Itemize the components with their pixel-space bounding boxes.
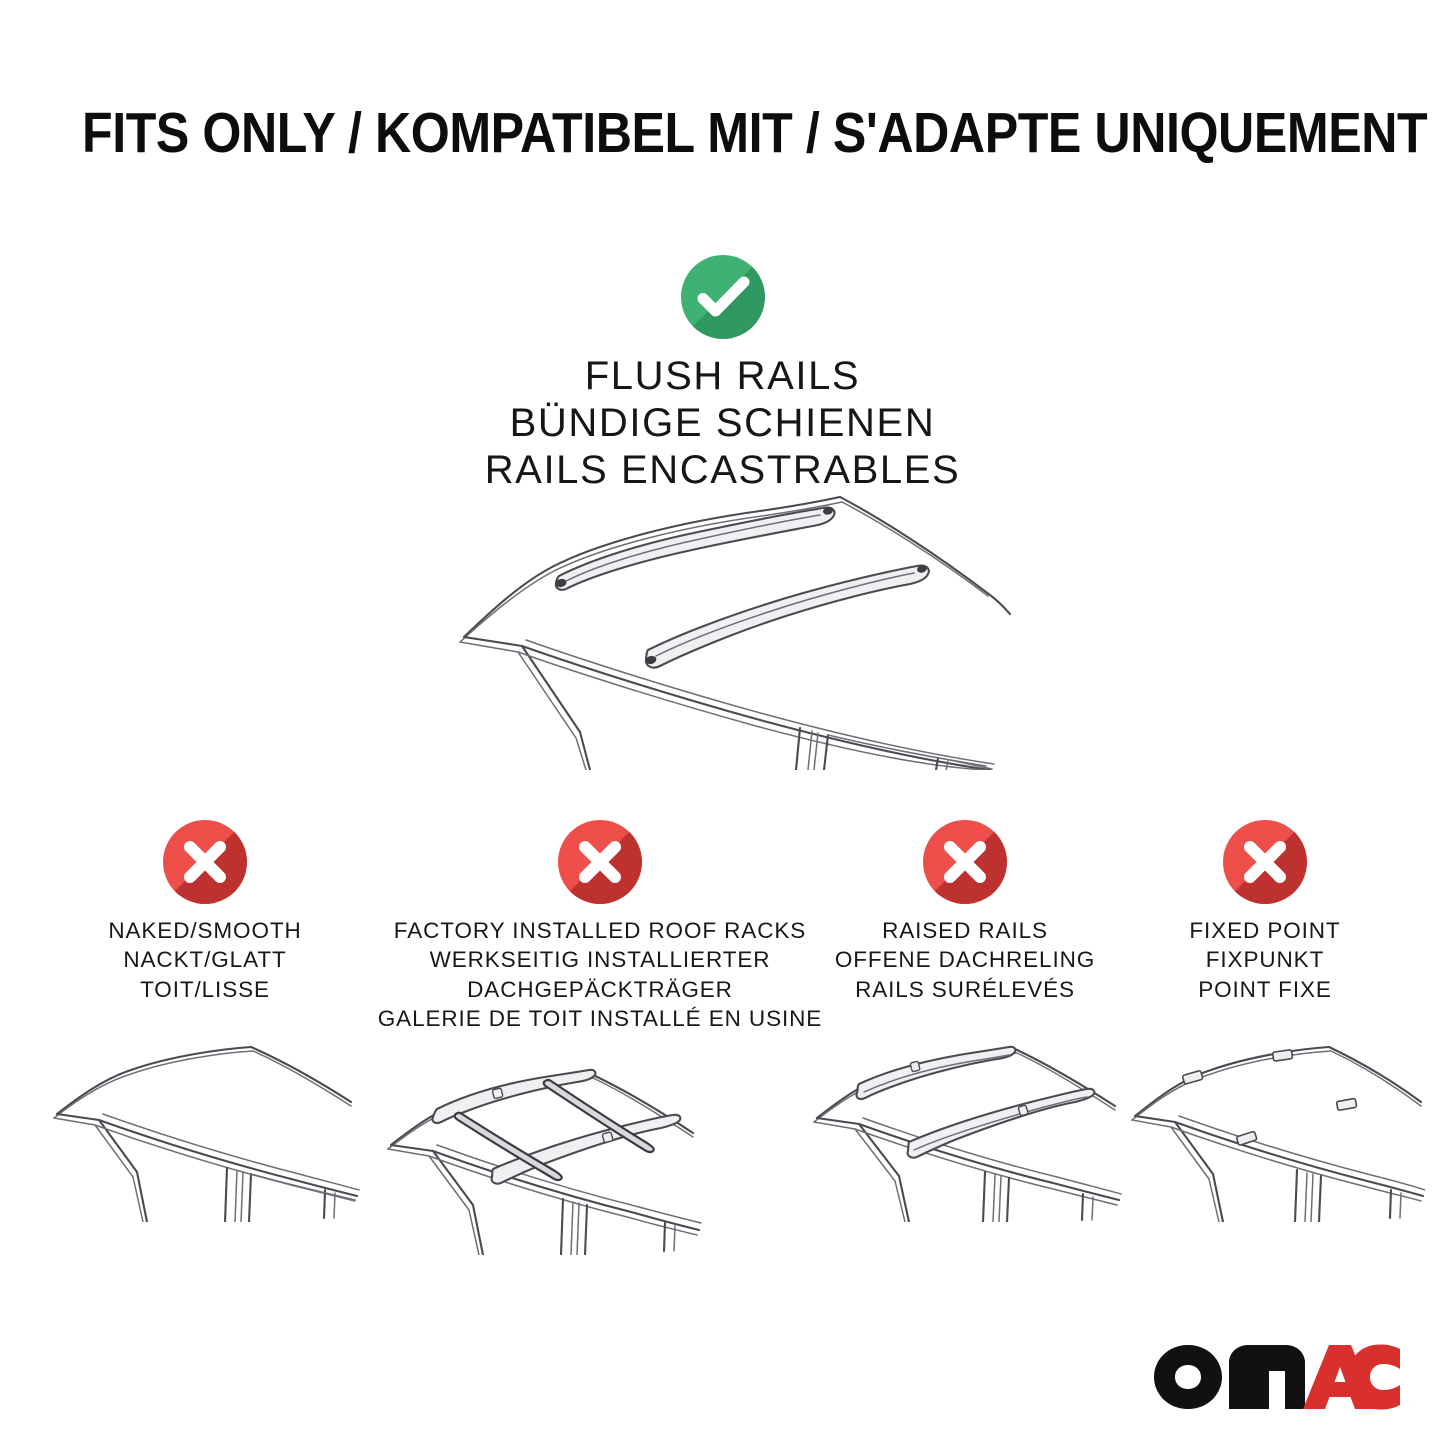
caption: NAKED/SMOOTH NACKT/GLATT TOIT/LISSE xyxy=(45,916,365,1004)
incompatible-item-factory-roof-racks: FACTORY INSTALLED ROOF RACKS WERKSEITIG … xyxy=(375,820,825,1255)
car-roof-bare-illustration xyxy=(45,1022,365,1222)
car-roof-flush-rails-illustration xyxy=(430,470,1030,770)
badge-wrapper xyxy=(805,820,1125,916)
car-roof-raised-rails-illustration xyxy=(805,1022,1125,1222)
caption-line-fr: GALERIE DE TOIT INSTALLÉ EN USINE xyxy=(375,1004,825,1033)
compatibility-infographic: FITS ONLY / KOMPATIBEL MIT / S'ADAPTE UN… xyxy=(0,0,1445,1445)
x-circle-icon xyxy=(1223,820,1307,904)
caption: FIXED POINT FIXPUNKT POINT FIXE xyxy=(1125,916,1405,1004)
caption-line-fr: TOIT/LISSE xyxy=(45,975,365,1004)
incompatible-item-fixed-point: FIXED POINT FIXPUNKT POINT FIXE xyxy=(1125,820,1405,1222)
logo-letter-m xyxy=(1229,1345,1305,1409)
caption-line-en: FACTORY INSTALLED ROOF RACKS xyxy=(375,916,825,945)
x-circle-icon xyxy=(558,820,642,904)
incompatible-section: NAKED/SMOOTH NACKT/GLATT TOIT/LISSE xyxy=(0,820,1445,1240)
logo-letter-o xyxy=(1154,1345,1222,1409)
x-circle-icon xyxy=(163,820,247,904)
car-roof-with-crossbars-illustration xyxy=(375,1045,825,1255)
compatible-label-en: FLUSH RAILS xyxy=(0,353,1445,400)
incompatible-item-naked-smooth: NAKED/SMOOTH NACKT/GLATT TOIT/LISSE xyxy=(45,820,365,1222)
caption-line-de: FIXPUNKT xyxy=(1125,945,1405,974)
car-roof-fixed-points-illustration xyxy=(1125,1022,1405,1222)
omac-logo xyxy=(1151,1341,1403,1413)
caption-line-en: FIXED POINT xyxy=(1125,916,1405,945)
caption-line-fr: RAILS SURÉLEVÉS xyxy=(805,975,1125,1004)
caption-line-fr: POINT FIXE xyxy=(1125,975,1405,1004)
badge-wrapper xyxy=(1125,820,1405,916)
compatible-section: FLUSH RAILS BÜNDIGE SCHIENEN RAILS ENCAS… xyxy=(0,255,1445,495)
badge-wrapper xyxy=(375,820,825,916)
caption-line-de: OFFENE DACHRELING xyxy=(805,945,1125,974)
caption-line-de: NACKT/GLATT xyxy=(45,945,365,974)
caption-line-en: RAISED RAILS xyxy=(805,916,1125,945)
check-circle-icon xyxy=(681,255,765,339)
caption-line-de-2: DACHGEPÄCKTRÄGER xyxy=(375,975,825,1004)
caption-line-en: NAKED/SMOOTH xyxy=(45,916,365,945)
page-title: FITS ONLY / KOMPATIBEL MIT / S'ADAPTE UN… xyxy=(82,105,1226,162)
incompatible-item-raised-rails: RAISED RAILS OFFENE DACHRELING RAILS SUR… xyxy=(805,820,1125,1222)
caption: RAISED RAILS OFFENE DACHRELING RAILS SUR… xyxy=(805,916,1125,1004)
compatible-label-de: BÜNDIGE SCHIENEN xyxy=(0,400,1445,447)
caption-line-de-1: WERKSEITIG INSTALLIERTER xyxy=(375,945,825,974)
x-circle-icon xyxy=(923,820,1007,904)
caption: FACTORY INSTALLED ROOF RACKS WERKSEITIG … xyxy=(375,916,825,1033)
badge-wrapper xyxy=(45,820,365,916)
